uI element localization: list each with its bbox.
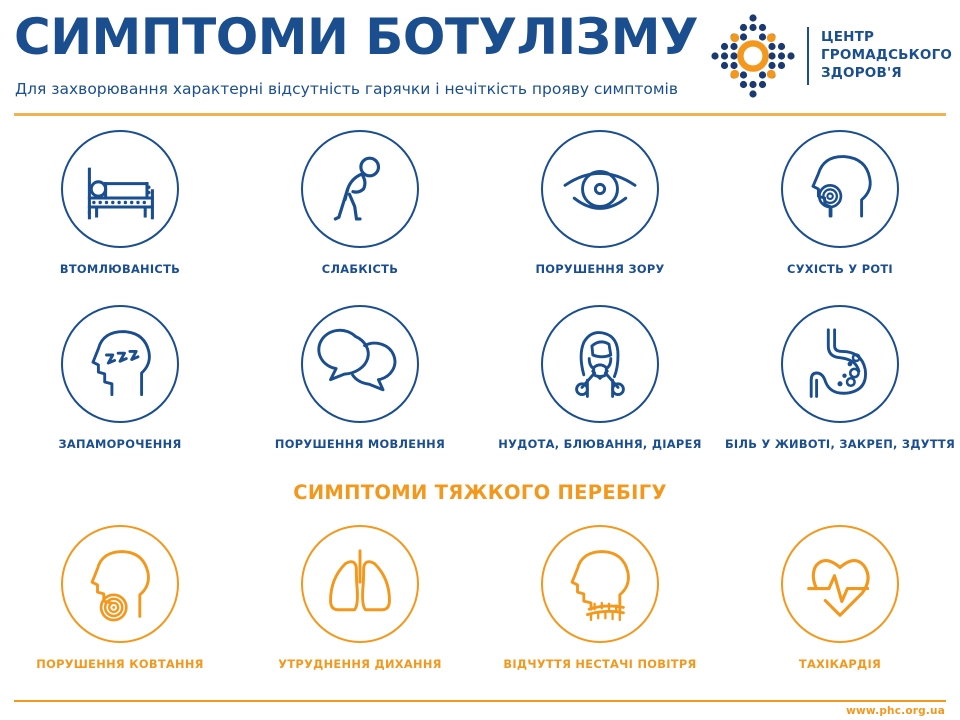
speech-bubbles-icon	[301, 305, 419, 423]
footer-divider	[14, 700, 946, 702]
person-covering-mouth-nausea-icon	[541, 305, 659, 423]
head-dry-mouth-icon	[781, 130, 899, 248]
symptom-label: ВІДЧУТТЯ НЕСТАЧІ ПОВІТРЯ	[503, 657, 696, 671]
symptom-label: ПОРУШЕННЯ ЗОРУ	[535, 262, 664, 276]
symptom-row-3: ПОРУШЕННЯ КОВТАННЯ УТРУДНЕННЯ ДИХАННЯ	[0, 525, 960, 685]
logo-divider	[807, 27, 809, 85]
logo-text: ЦЕНТР ГРОМАДСЬКОГО ЗДОРОВ'Я	[821, 29, 952, 82]
footer-website-url[interactable]: www.phc.org.ua	[846, 705, 945, 717]
head-throat-target-icon	[61, 525, 179, 643]
symptom-label: НУДОТА, БЛЮВАННЯ, ДІАРЕЯ	[498, 437, 701, 451]
symptom-label: ПОРУШЕННЯ МОВЛЕННЯ	[275, 437, 445, 451]
symptom-cell-air-hunger[interactable]: ВІДЧУТТЯ НЕСТАЧІ ПОВІТРЯ	[480, 525, 720, 685]
symptom-cell-weakness[interactable]: СЛАБКІСТЬ	[240, 130, 480, 290]
logo-text-line-2: ГРОМАДСЬКОГО	[821, 47, 952, 65]
symptom-label: ПОРУШЕННЯ КОВТАННЯ	[36, 657, 204, 671]
symptom-label: СУХІСТЬ У РОТІ	[787, 262, 893, 276]
phc-diamond-dots-logo-icon	[705, 8, 801, 104]
symptom-label: БІЛЬ У ЖИВОТІ, ЗАКРЕП, ЗДУТТЯ	[725, 437, 955, 451]
lungs-icon	[301, 525, 419, 643]
symptom-label: ВТОМЛЮВАНІСТЬ	[60, 262, 180, 276]
symptom-label: ЗАПАМОРОЧЕННЯ	[58, 437, 181, 451]
symptom-cell-nausea[interactable]: НУДОТА, БЛЮВАННЯ, ДІАРЕЯ	[480, 305, 720, 465]
symptom-label: УТРУДНЕННЯ ДИХАННЯ	[278, 657, 441, 671]
hunched-walking-person-icon	[301, 130, 419, 248]
symptom-cell-vision[interactable]: ПОРУШЕННЯ ЗОРУ	[480, 130, 720, 290]
symptom-cell-dry-mouth[interactable]: СУХІСТЬ У РОТІ	[720, 130, 960, 290]
header: СИМПТОМИ БОТУЛІЗМУ Для захворювання хара…	[0, 0, 960, 112]
eye-icon	[541, 130, 659, 248]
symptom-cell-fatigue[interactable]: ВТОМЛЮВАНІСТЬ	[0, 130, 240, 290]
symptom-cell-abdominal-pain[interactable]: БІЛЬ У ЖИВОТІ, ЗАКРЕП, ЗДУТТЯ	[720, 305, 960, 465]
head-lightning-dizziness-icon	[61, 305, 179, 423]
symptom-cell-tachycardia[interactable]: ТАХІКАРДІЯ	[720, 525, 960, 685]
header-divider	[14, 113, 946, 116]
symptom-cell-breathing[interactable]: УТРУДНЕННЯ ДИХАННЯ	[240, 525, 480, 685]
organization-logo: ЦЕНТР ГРОМАДСЬКОГО ЗДОРОВ'Я	[705, 8, 950, 104]
symptom-row-2: ЗАПАМОРОЧЕННЯ ПОРУШЕННЯ МОВЛЕННЯ	[0, 305, 960, 465]
page-title: СИМПТОМИ БОТУЛІЗМУ	[14, 8, 698, 66]
logo-text-line-1: ЦЕНТР	[821, 29, 952, 47]
stomach-icon	[781, 305, 899, 423]
page-subtitle: Для захворювання характерні відсутність …	[15, 80, 678, 98]
symptom-label: СЛАБКІСТЬ	[322, 262, 398, 276]
symptom-label: ТАХІКАРДІЯ	[799, 657, 881, 671]
infographic-page: СИМПТОМИ БОТУЛІЗМУ Для захворювання хара…	[0, 0, 960, 720]
symptom-cell-speech[interactable]: ПОРУШЕННЯ МОВЛЕННЯ	[240, 305, 480, 465]
symptom-row-1: ВТОМЛЮВАНІСТЬ СЛАБКІСТЬ	[0, 130, 960, 290]
severe-symptoms-heading: СИМПТОМИ ТЯЖКОГО ПЕРЕБІГУ	[0, 481, 960, 504]
logo-text-line-3: ЗДОРОВ'Я	[821, 65, 952, 83]
head-airflow-icon	[541, 525, 659, 643]
symptom-cell-swallowing[interactable]: ПОРУШЕННЯ КОВТАННЯ	[0, 525, 240, 685]
symptom-cell-dizziness[interactable]: ЗАПАМОРОЧЕННЯ	[0, 305, 240, 465]
heart-pulse-icon	[781, 525, 899, 643]
bed-icon	[61, 130, 179, 248]
